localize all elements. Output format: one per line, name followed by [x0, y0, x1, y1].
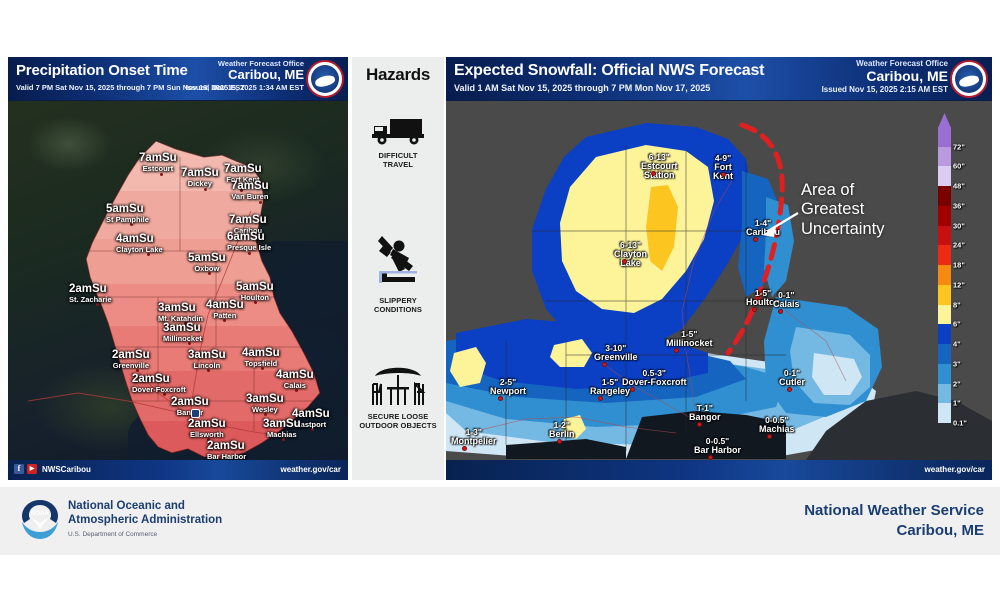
snowfall-city-name: Newport [490, 387, 526, 396]
snowfall-city-label: 1-5"Millinocket [666, 330, 713, 348]
left-map-issued-time: Issued Nov 15, 2025 1:34 AM EST [185, 84, 304, 92]
onset-city-label: 3amSuMachias [263, 419, 301, 438]
onset-city-label: 2amSuDover-Foxcroft [132, 374, 186, 393]
nws-seal-icon-right [950, 60, 988, 98]
onset-time-value: 5amSu [188, 253, 226, 265]
social-links[interactable]: f ▶ NWSCaribou [14, 464, 91, 474]
onset-time-value: 7amSu [139, 153, 177, 165]
onset-city-name: Calais [276, 382, 314, 390]
snowfall-city-name: Berlin [549, 430, 575, 439]
snowfall-city-name: Caribou [746, 228, 780, 237]
legend-tick-label: 18" [953, 261, 965, 270]
left-map-title: Precipitation Onset Time [16, 62, 188, 79]
snowfall-city-name: Machias [759, 425, 795, 434]
hazard-caption-3: SECURE LOOSE OUTDOOR OBJECTS [352, 412, 444, 431]
legend-color-segment [938, 265, 951, 285]
onset-time-value: 2amSu [207, 441, 246, 453]
city-dot [204, 188, 207, 191]
noaa-line-2: Atmospheric Administration [68, 513, 222, 527]
onset-city-label: 2amSuEllsworth [188, 419, 226, 438]
hazard-secure-loose-objects: SECURE LOOSE OUTDOOR OBJECTS [352, 362, 444, 431]
legend-top-arrow [938, 113, 951, 128]
city-dot [674, 348, 679, 353]
snowfall-legend: 72"60"48"36"30"24"18"12"8"6"4"3"2"1"0.1" [936, 113, 984, 423]
legend-tick-label: 36" [953, 201, 965, 210]
legend-tick-label: 3" [953, 359, 961, 368]
legend-color-segment [938, 166, 951, 186]
expected-snowfall-map-panel: Area of Greatest Uncertainty 6-13"Estcou… [446, 57, 992, 480]
legend-tick-label: 24" [953, 241, 965, 250]
snowfall-city-label: 0-1"Cutler [779, 369, 805, 387]
snowfall-city-name: Montpelier [451, 437, 497, 446]
right-map-office-block: Weather Forecast Office Caribou, ME Issu… [822, 60, 948, 95]
onset-city-name: Patten [206, 312, 244, 320]
city-dot [598, 396, 603, 401]
onset-city-label: 4amSuPatten [206, 300, 244, 319]
snowfall-city-label: 1-3"Montpelier [451, 428, 497, 446]
right-map-valid-time: Valid 1 AM Sat Nov 15, 2025 through 7 PM… [454, 83, 710, 93]
onset-city-label: 2amSuGreenville [112, 350, 150, 369]
patio-umbrella-icon [367, 362, 429, 408]
onset-time-value: 7amSu [224, 164, 262, 176]
onset-city-name: Greenville [112, 362, 150, 370]
onset-time-value: 5amSu [106, 204, 149, 216]
onset-city-name: Bangor [171, 409, 209, 417]
onset-time-value: 4amSu [116, 234, 163, 246]
left-map-office-block: Weather Forecast Office Caribou, ME Issu… [185, 60, 304, 92]
snowfall-city-name: Millinocket [666, 339, 713, 348]
legend-tick-label: 1" [953, 399, 961, 408]
legend-tick-label: 60" [953, 162, 965, 171]
onset-city-name: Dover-Foxcroft [132, 386, 186, 394]
onset-time-value: 7amSu [231, 181, 269, 193]
snowfall-city-label: 6-13"EstcourtStation [641, 153, 678, 181]
snowfall-city-name: Rangeley [590, 387, 630, 396]
snowfall-city-label: 0-0.5"Bar Harbor [694, 437, 741, 455]
onset-time-value: 2amSu [188, 419, 226, 431]
legend-color-segment [938, 305, 951, 325]
city-dot [602, 362, 607, 367]
precipitation-onset-map-panel: 7amSuEstcourt7amSuDickey7amSuFort Kent7a… [8, 57, 348, 480]
legend-color-segment [938, 186, 951, 206]
snowfall-city-name: Greenville [594, 353, 638, 362]
nws-agency-text: National Weather Service Caribou, ME [804, 501, 984, 540]
right-map-body: Area of Greatest Uncertainty 6-13"Estcou… [446, 101, 992, 460]
facebook-icon[interactable]: f [14, 464, 24, 474]
onset-city-label: 4amSuCalais [276, 370, 314, 389]
snowfall-city-label: T-1"Bangor [689, 404, 721, 422]
onset-time-value: 3amSu [188, 350, 226, 362]
onset-time-value: 2amSu [69, 284, 112, 296]
city-dot [752, 307, 757, 312]
legend-tick-label: 48" [953, 182, 965, 191]
noaa-line-1: National Oceanic and [68, 499, 222, 513]
legend-tick-label: 6" [953, 320, 961, 329]
onset-city-name: St Pamphile [106, 216, 149, 224]
uncertainty-annotation-line2: Greatest [801, 200, 884, 219]
onset-city-name: Bar Harbor [207, 453, 246, 461]
right-map-header: Expected Snowfall: Official NWS Forecast… [446, 57, 992, 101]
hazard-caption-1-line1: DIFFICULT [352, 151, 444, 160]
legend-color-segment [938, 384, 951, 404]
snowfall-city-label: 1-2"Berlin [549, 421, 575, 439]
onset-city-label: 2amSuBangor [171, 397, 209, 416]
onset-city-name: Ellsworth [188, 431, 226, 439]
city-dot [753, 237, 758, 242]
legend-tick-label: 0.1" [953, 419, 967, 428]
city-dot [778, 309, 783, 314]
onset-time-value: 3amSu [158, 303, 203, 315]
legend-tick-label: 4" [953, 340, 961, 349]
right-map-issued-time: Issued Nov 15, 2025 2:15 AM EST [822, 86, 948, 95]
snowfall-city-label: 1-4"Caribou [746, 219, 780, 237]
legend-color-segment [938, 127, 951, 147]
noaa-logo-text: NOAA [31, 511, 49, 517]
city-dot [498, 396, 503, 401]
snowfall-city-label: 0-0.5"Machias [759, 416, 795, 434]
snowfall-city-name: Bar Harbor [694, 446, 741, 455]
left-map-header: Precipitation Onset Time Valid 7 PM Sat … [8, 57, 348, 101]
onset-city-name: Millinocket [163, 335, 202, 343]
onset-city-name: Oxbow [188, 265, 226, 273]
onset-city-name: St. Zacharie [69, 296, 112, 304]
onset-city-name: Lincoln [188, 362, 226, 370]
snowfall-city-label: 0.5-3"Dover-Foxcroft [622, 369, 687, 387]
onset-city-label: 4amSuTopsfield [242, 348, 280, 367]
snowfall-city-label: 3-10"Greenville [594, 344, 638, 362]
city-dot [259, 201, 262, 204]
hazard-caption-2: SLIPPERY CONDITIONS [352, 296, 444, 315]
right-map-website-url[interactable]: weather.gov/car [925, 465, 985, 474]
hazard-difficult-travel: DIFFICULT TRAVEL [352, 115, 444, 170]
snowfall-city-label: 2-5"Newport [490, 378, 526, 396]
legend-tick-labels: 72"60"48"36"30"24"18"12"8"6"4"3"2"1"0.1" [953, 127, 983, 423]
onset-city-label: 3amSuWesley [246, 394, 284, 413]
legend-color-segment [938, 147, 951, 167]
snowfall-city-label: 1-5"Rangeley [590, 378, 630, 396]
legend-color-segment [938, 245, 951, 265]
uncertainty-annotation-line1: Area of [801, 181, 884, 200]
right-map-footer: weather.gov/car [446, 460, 992, 480]
legend-tick-label: 2" [953, 379, 961, 388]
legend-tick-label: 72" [953, 142, 965, 151]
legend-color-segment [938, 364, 951, 384]
nws-line-1: National Weather Service [804, 501, 984, 521]
legend-tick-label: 30" [953, 221, 965, 230]
legend-color-bar [938, 127, 951, 423]
snowfall-city-label: 0-1"Calais [773, 291, 800, 309]
onset-time-value: 7amSu [181, 168, 219, 180]
snowfall-city-name: Dover-Foxcroft [622, 378, 687, 387]
snowfall-city-name: Bangor [689, 413, 721, 422]
onset-city-label: 6amSuPresque Isle [227, 232, 271, 251]
onset-city-label: 5amSuOxbow [188, 253, 226, 272]
snowfall-city-label: 6-13"ClaytonLake [614, 241, 647, 269]
hazards-title: Hazards [352, 65, 444, 85]
noaa-logo-icon: NOAA [18, 498, 62, 542]
onset-time-value: 5amSu [236, 282, 274, 294]
onset-city-name: Dickey [181, 180, 219, 188]
onset-time-value: 3amSu [246, 394, 284, 406]
hazard-slippery-conditions: SLIPPERY CONDITIONS [352, 232, 444, 315]
city-dot [697, 422, 702, 427]
onset-time-value: 4amSu [276, 370, 314, 382]
onset-city-name: Clayton Lake [116, 246, 163, 254]
slipping-person-icon [369, 232, 427, 292]
onset-city-label: 5amSuSt Pamphile [106, 204, 149, 223]
snowfall-city-label: 4-9"FortKent [713, 154, 733, 182]
wfo-office-name-right: Caribou, ME [822, 69, 948, 85]
onset-time-value: 2amSu [112, 350, 150, 362]
hazard-caption-3-line2: OUTDOOR OBJECTS [352, 421, 444, 430]
onset-time-value: 6amSu [227, 232, 271, 244]
snowfall-city-name-line2: Lake [614, 259, 647, 268]
uncertainty-annotation: Area of Greatest Uncertainty [801, 181, 884, 239]
legend-tick-label: 12" [953, 280, 965, 289]
legend-color-segment [938, 403, 951, 423]
wfo-office-name: Caribou, ME [185, 68, 304, 83]
hazard-caption-1-line2: TRAVEL [352, 160, 444, 169]
onset-city-name: Mt. Katahdin [158, 315, 203, 323]
city-dot [557, 439, 562, 444]
noaa-line-3: U.S. Department of Commerce [68, 531, 222, 538]
snowfall-city-name: Cutler [779, 378, 805, 387]
onset-time-value: 4amSu [206, 300, 244, 312]
onset-city-label: 7amSuEstcourt [139, 153, 177, 172]
left-map-footer: f ▶ NWSCaribou weather.gov/car [8, 460, 348, 480]
legend-color-segment [938, 285, 951, 305]
hazard-caption-3-line1: SECURE LOOSE [352, 412, 444, 421]
onset-time-value: 7amSu [229, 215, 267, 227]
onset-city-name: Estcourt [139, 165, 177, 173]
weather-graphic: 7amSuEstcourt7amSuDickey7amSuFort Kent7a… [0, 0, 1000, 600]
onset-time-value: 3amSu [263, 419, 301, 431]
hazard-caption-1: DIFFICULT TRAVEL [352, 151, 444, 170]
noaa-agency-text: National Oceanic and Atmospheric Adminis… [68, 499, 222, 538]
onset-city-label: 7amSuDickey [181, 168, 219, 187]
agency-footer-bar: NOAA National Oceanic and Atmospheric Ad… [0, 487, 1000, 555]
onset-city-label: 3amSuMillinocket [163, 323, 202, 342]
hazards-panel: Hazards DIFFICULT TRAVEL [352, 57, 444, 480]
city-dot [160, 173, 163, 176]
uncertainty-annotation-line3: Uncertainty [801, 220, 884, 239]
truck-icon [370, 115, 426, 147]
onset-city-label: 7amSuVan Buren [231, 181, 269, 200]
legend-tick-label: 8" [953, 300, 961, 309]
hazard-caption-2-line2: CONDITIONS [352, 305, 444, 314]
interstate-shield-icon [191, 409, 200, 418]
onset-city-label: 2amSuBar Harbor [207, 441, 246, 460]
city-dot [651, 171, 656, 176]
nws-line-2: Caribou, ME [804, 521, 984, 541]
legend-color-segment [938, 206, 951, 226]
social-handle: NWSCaribou [42, 465, 91, 474]
onset-city-name: Wesley [246, 406, 284, 414]
left-map-body: 7amSuEstcourt7amSuDickey7amSuFort Kent7a… [8, 101, 348, 460]
onset-city-label: 3amSuLincoln [188, 350, 226, 369]
onset-time-value: 2amSu [132, 374, 186, 386]
city-dot [622, 259, 627, 264]
onset-city-label: 3amSuMt. Katahdin [158, 303, 203, 322]
city-dot [462, 446, 467, 451]
legend-color-segment [938, 324, 951, 344]
onset-city-label: 4amSuClayton Lake [116, 234, 163, 253]
legend-color-segment [938, 344, 951, 364]
onset-time-value: 2amSu [171, 397, 209, 409]
legend-color-segment [938, 226, 951, 246]
youtube-icon[interactable]: ▶ [27, 464, 37, 474]
onset-city-name: Topsfield [242, 360, 280, 368]
right-map-title: Expected Snowfall: Official NWS Forecast [454, 62, 764, 80]
left-map-website-url[interactable]: weather.gov/car [281, 465, 341, 474]
nws-seal-icon [306, 60, 344, 98]
onset-city-name: Machias [263, 431, 301, 439]
onset-city-label: 2amSuSt. Zacharie [69, 284, 112, 303]
snowfall-city-name: Calais [773, 300, 800, 309]
onset-city-name: Van Buren [231, 193, 269, 201]
city-dot [248, 252, 251, 255]
city-dot [630, 387, 635, 392]
onset-time-value: 3amSu [163, 323, 202, 335]
onset-time-value: 4amSu [242, 348, 280, 360]
city-dot [787, 387, 792, 392]
city-dot [721, 172, 726, 177]
city-dot [767, 434, 772, 439]
snowfall-city-name-line2: Station [641, 171, 678, 180]
hazard-caption-2-line1: SLIPPERY [352, 296, 444, 305]
onset-city-name: Presque Isle [227, 244, 271, 252]
